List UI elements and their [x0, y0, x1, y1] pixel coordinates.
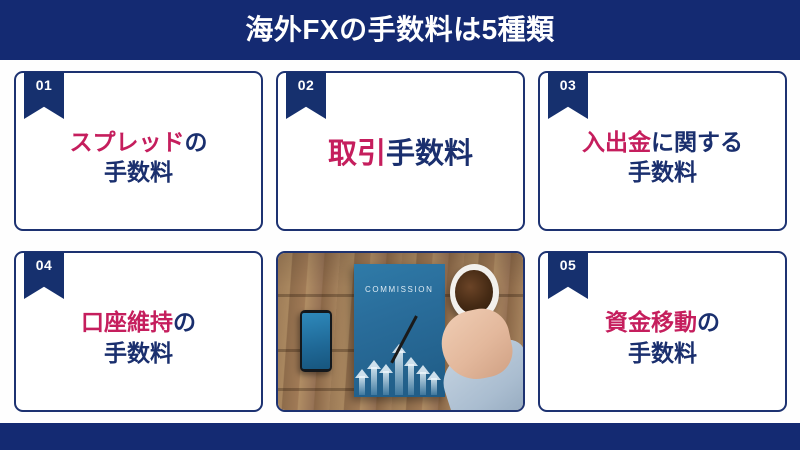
card-02-suffix: 手数料	[386, 138, 473, 170]
card-05-line-1: 資金移動の	[605, 307, 720, 337]
arrow-7	[431, 378, 437, 395]
card-01-line-2: 手数料	[70, 157, 208, 187]
smartphone	[300, 310, 332, 373]
ribbon-badge-05: 05	[548, 252, 588, 299]
card-03-suffix: に関する	[651, 129, 743, 155]
card-05-line-2: 手数料	[605, 338, 720, 368]
arrow-1	[359, 376, 365, 395]
ribbon-badge-02: 02	[286, 72, 326, 119]
photo-cell: COMMISSION	[276, 251, 525, 412]
card-05-text: 資金移動の 手数料	[597, 307, 728, 368]
card-01-line-1: スプレッドの	[70, 127, 208, 157]
desk-photo: COMMISSION	[278, 253, 523, 410]
arrow-4	[395, 351, 403, 395]
card-04-suffix: の	[173, 309, 196, 335]
arrow-6	[420, 372, 426, 394]
card-04-accent: 口座維持	[81, 309, 173, 335]
card-05[interactable]: 05 資金移動の 手数料	[538, 251, 787, 412]
card-03[interactable]: 03 入出金に関する 手数料	[538, 71, 787, 231]
card-05-accent: 資金移動	[605, 309, 697, 335]
page-title: 海外FXの手数料は5種類	[245, 16, 554, 44]
card-05-suffix: の	[697, 309, 720, 335]
card-04-line-1: 口座維持の	[81, 307, 196, 337]
card-01-accent: スプレッド	[70, 129, 185, 155]
card-03-accent: 入出金	[582, 129, 651, 155]
card-03-line-2: 手数料	[582, 157, 743, 187]
header-band: 海外FXの手数料は5種類	[0, 0, 800, 60]
ribbon-badge-01: 01	[24, 72, 64, 119]
card-02-accent: 取引	[328, 138, 386, 170]
card-04-line-2: 手数料	[81, 338, 196, 368]
card-01-suffix: の	[185, 129, 208, 155]
card-02[interactable]: 02 取引手数料	[276, 71, 525, 231]
card-04-text: 口座維持の 手数料	[73, 307, 204, 368]
card-02-line-1: 取引手数料	[328, 135, 473, 173]
arrow-3	[383, 371, 389, 395]
ribbon-badge-03: 03	[548, 72, 588, 119]
card-04[interactable]: 04 口座維持の 手数料	[14, 251, 263, 412]
card-02-text: 取引手数料	[320, 135, 481, 173]
booklet-title: COMMISSION	[354, 285, 445, 294]
footer-band	[0, 423, 800, 450]
ribbon-badge-04: 04	[24, 252, 64, 299]
commission-booklet: COMMISSION	[354, 264, 445, 397]
infographic-page: 海外FXの手数料は5種類 01 スプレッドの 手数料 02 取引手数料 03 入…	[0, 0, 800, 450]
phone-screen	[302, 313, 330, 370]
arrow-5	[408, 364, 414, 395]
card-grid: 01 スプレッドの 手数料 02 取引手数料 03 入出金に関する 手数料 04	[14, 71, 786, 412]
arrow-2	[371, 367, 377, 395]
card-01-text: スプレッドの 手数料	[62, 127, 216, 188]
card-03-line-1: 入出金に関する	[582, 127, 743, 157]
card-03-text: 入出金に関する 手数料	[574, 127, 751, 188]
card-01[interactable]: 01 スプレッドの 手数料	[14, 71, 263, 231]
coffee-liquid	[455, 270, 492, 314]
